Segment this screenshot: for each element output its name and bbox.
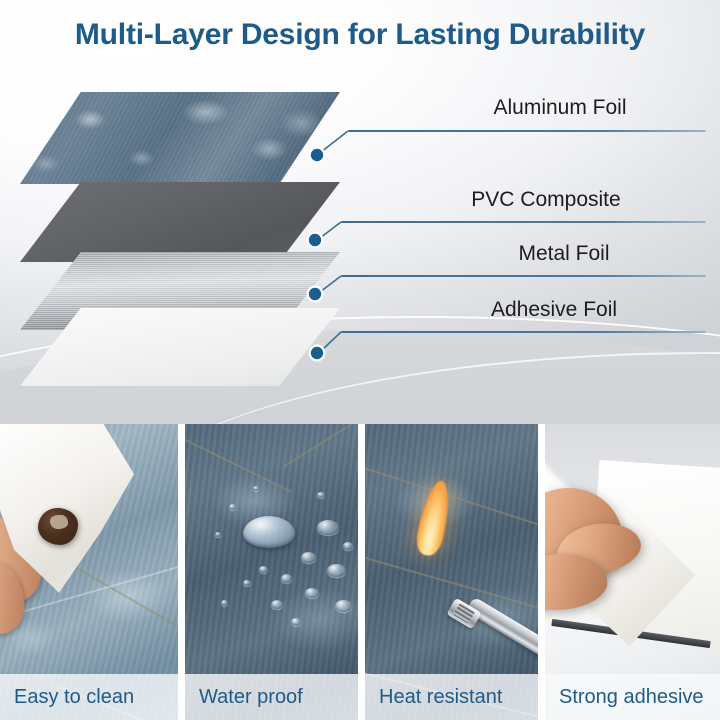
feature-panel-strong-adhesive[interactable]: Strong adhesive <box>545 424 720 720</box>
water-bead <box>215 532 221 537</box>
feature-panel-easy-to-clean[interactable]: Easy to clean <box>0 424 178 720</box>
water-bead <box>305 588 319 598</box>
water-bead <box>229 504 236 510</box>
feature-caption-heat-resistant: Heat resistant <box>365 674 538 720</box>
feature-panel-heat-resistant[interactable]: Heat resistant <box>365 424 538 720</box>
callout-leader-adhesive-foil <box>0 0 720 430</box>
water-bead <box>259 566 268 573</box>
water-bead <box>343 542 353 550</box>
water-bead <box>243 580 251 586</box>
water-bead <box>221 600 228 606</box>
water-bead <box>291 618 301 626</box>
water-bead <box>281 574 292 583</box>
water-bead <box>271 600 283 609</box>
water-bead <box>253 486 259 491</box>
water-bead <box>317 520 339 535</box>
feature-panels: Easy to clean <box>0 424 720 720</box>
water-bead <box>317 492 325 498</box>
page-title: Multi-Layer Design for Lasting Durabilit… <box>0 18 720 52</box>
feature-caption-easy-to-clean: Easy to clean <box>0 674 178 720</box>
water-bead <box>301 552 316 563</box>
product-infographic: Multi-Layer Design for Lasting Durabilit… <box>0 0 720 720</box>
water-bead <box>327 564 346 577</box>
dirt-stain <box>38 508 78 545</box>
water-bead-large <box>243 516 295 548</box>
water-bead <box>335 600 352 612</box>
hero-section: Multi-Layer Design for Lasting Durabilit… <box>0 0 720 430</box>
feature-caption-strong-adhesive: Strong adhesive <box>545 674 720 720</box>
feature-panel-water-proof[interactable]: Water proof <box>185 424 358 720</box>
feature-caption-water-proof: Water proof <box>185 674 358 720</box>
